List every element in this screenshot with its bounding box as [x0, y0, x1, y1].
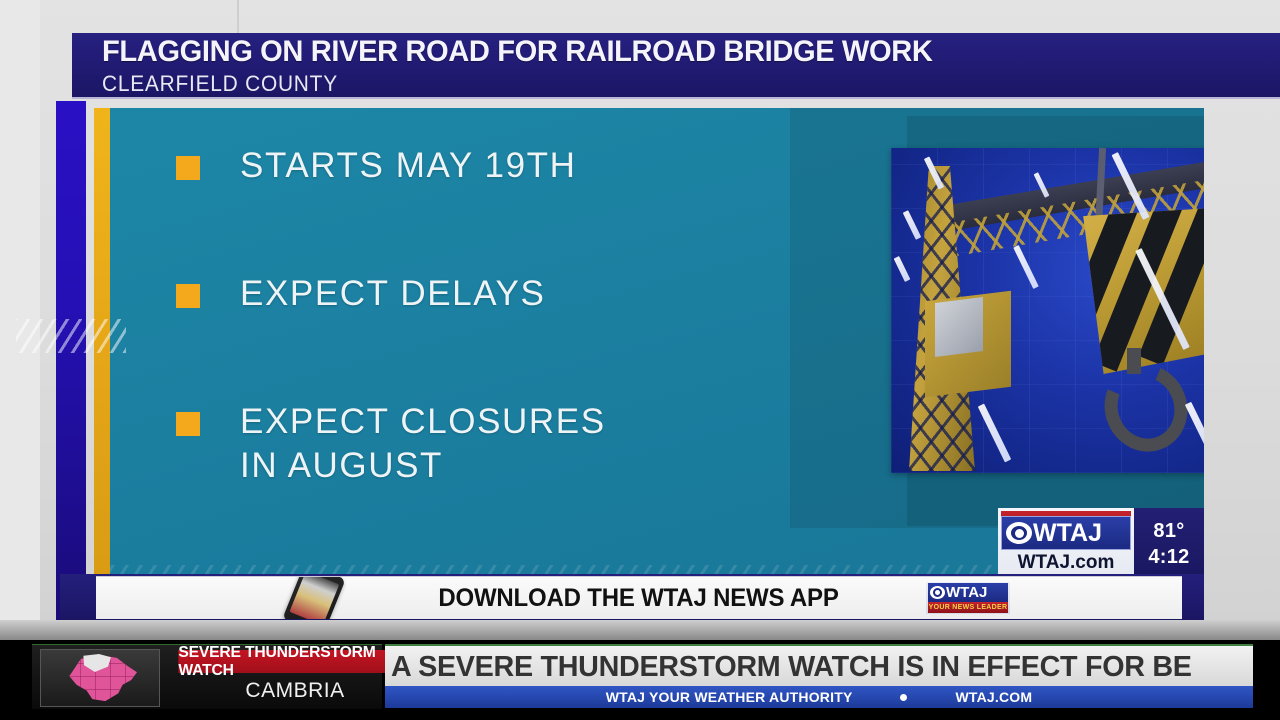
app-download-banner: DOWNLOAD THE WTAJ NEWS APP WTAJ YOUR NEW…	[96, 576, 1182, 619]
accent-stripe-blue	[56, 101, 86, 620]
list-item: EXPECT CLOSURES IN AUGUST	[176, 400, 606, 490]
app-banner-text: DOWNLOAD THE WTAJ NEWS APP	[439, 584, 839, 613]
bullet-label: STARTS MAY 19TH	[240, 144, 606, 189]
weather-alert-crawl: SEVERE THUNDERSTORM WATCH CAMBRIA A SEVE…	[0, 640, 1280, 720]
county-map-graphic	[40, 649, 160, 707]
bullet-square-icon	[176, 412, 200, 436]
current-time: 4:12	[1148, 546, 1189, 569]
headline-bar: FLAGGING ON RIVER ROAD FOR RAILROAD BRID…	[72, 33, 1280, 99]
cbs-eye-icon	[930, 586, 945, 599]
accent-stripe-gold	[94, 108, 110, 611]
app-logo-tagline: YOUR NEWS LEADER	[928, 602, 1008, 613]
current-temperature: 81°	[1153, 520, 1184, 543]
list-item: STARTS MAY 19TH	[176, 144, 606, 189]
app-logo-callsign: WTAJ	[946, 585, 987, 600]
bullet-square-icon	[176, 156, 200, 180]
bullet-label: EXPECT DELAYS	[240, 272, 606, 317]
backdrop-left-panel	[0, 0, 40, 630]
headline-title: FLAGGING ON RIVER ROAD FOR RAILROAD BRID…	[102, 35, 933, 69]
left-hatch-accent	[16, 319, 126, 353]
logo-blue-plate: WTAJ	[1001, 516, 1131, 550]
alert-ticker: A SEVERE THUNDERSTORM WATCH IS IN EFFECT…	[385, 644, 1253, 708]
alert-ticker-text-bar: A SEVERE THUNDERSTORM WATCH IS IN EFFECT…	[385, 644, 1253, 688]
alert-type-badge: SEVERE THUNDERSTORM WATCH	[178, 650, 411, 673]
crane-cab-window	[935, 297, 983, 357]
alert-ticker-text: A SEVERE THUNDERSTORM WATCH IS IN EFFECT…	[391, 651, 1192, 684]
station-weather-bug: WTAJ WTAJ.com 81° 4:12	[998, 508, 1204, 580]
list-item: EXPECT DELAYS	[176, 272, 606, 317]
app-logo-blue-plate: WTAJ	[928, 583, 1008, 602]
smartphone-screen	[289, 576, 339, 619]
website-label: WTAJ.COM	[955, 689, 1032, 705]
weather-authority-label: WTAJ YOUR WEATHER AUTHORITY	[606, 689, 853, 705]
bullet-label: EXPECT CLOSURES IN AUGUST	[240, 400, 606, 490]
backdrop-seam	[237, 0, 239, 36]
cbs-eye-icon	[1006, 522, 1032, 544]
station-website: WTAJ.com	[998, 552, 1134, 574]
smartphone-icon	[282, 576, 345, 619]
broadcast-screenshot: FLAGGING ON RIVER ROAD FOR RAILROAD BRID…	[0, 0, 1280, 720]
separator-dot-icon	[900, 694, 907, 701]
alert-ticker-footer: WTAJ YOUR WEATHER AUTHORITY WTAJ.COM	[385, 686, 1253, 708]
station-callsign: WTAJ	[1033, 521, 1102, 546]
weather-readout: 81° 4:12	[1134, 508, 1204, 580]
construction-crane-photo	[891, 148, 1204, 473]
alert-county-label: CAMBRIA	[176, 677, 414, 705]
headline-subtitle: CLEARFIELD COUNTY	[102, 71, 338, 97]
bullet-list: STARTS MAY 19TH EXPECT DELAYS EXPECT CLO…	[176, 144, 606, 489]
station-logo: WTAJ WTAJ.com	[998, 508, 1134, 580]
alert-summary-panel: SEVERE THUNDERSTORM WATCH CAMBRIA	[32, 644, 382, 709]
bullet-square-icon	[176, 284, 200, 308]
app-banner-logo: WTAJ YOUR NEWS LEADER	[926, 582, 1010, 614]
